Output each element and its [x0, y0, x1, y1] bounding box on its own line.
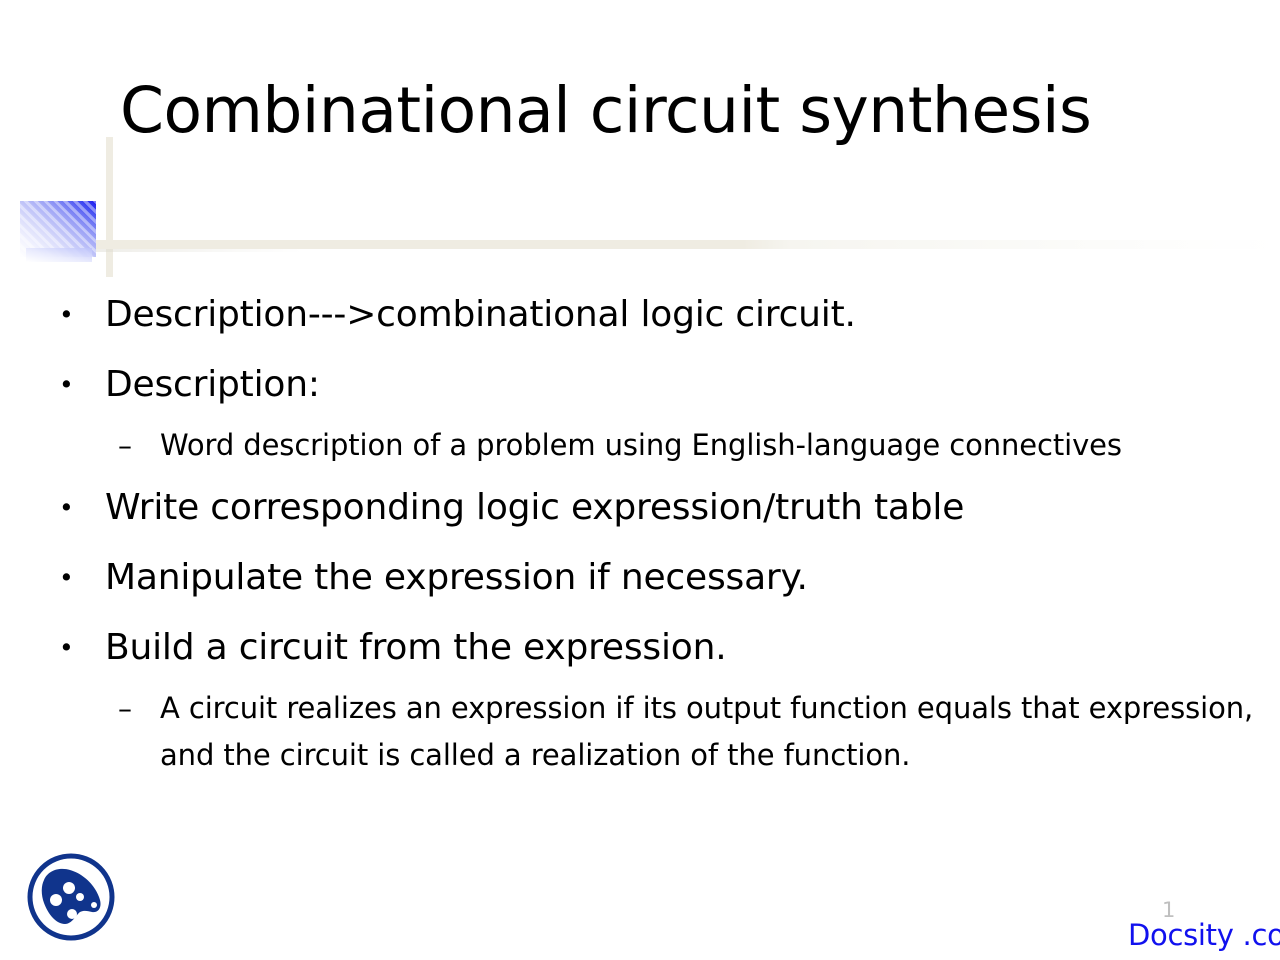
sub-list-item: – A circuit realizes an expression if it… — [0, 685, 1280, 779]
dash-marker: – — [118, 422, 160, 469]
horizontal-rule-shadow — [62, 249, 302, 252]
list-item: • Build a circuit from the expression. — [0, 615, 1280, 681]
slide-canvas: Combinational circuit synthesis • Descri… — [0, 0, 1280, 960]
list-item-text: Description--->combinational logic circu… — [105, 282, 1280, 348]
bullet-list: • Description--->combinational logic cir… — [0, 282, 1280, 785]
horizontal-rule-decoration — [60, 240, 1280, 249]
list-item-text: Manipulate the expression if necessary. — [105, 545, 1280, 611]
list-item: • Manipulate the expression if necessary… — [0, 545, 1280, 611]
list-item: • Description--->combinational logic cir… — [0, 282, 1280, 348]
bullet-marker: • — [55, 475, 105, 541]
bullet-marker: • — [55, 615, 105, 681]
page-title: Combinational circuit synthesis — [120, 78, 1240, 144]
list-item-text: Build a circuit from the expression. — [105, 615, 1280, 681]
list-item: • Description: — [0, 352, 1280, 418]
sub-list-item: – Word description of a problem using En… — [0, 422, 1280, 469]
list-item: • Write corresponding logic expression/t… — [0, 475, 1280, 541]
vertical-rule-decoration — [106, 137, 113, 277]
bullet-marker: • — [55, 282, 105, 348]
docsity-watermark: Docsity .com — [1128, 918, 1280, 952]
list-item-text: Write corresponding logic expression/tru… — [105, 475, 1280, 541]
bullet-marker: • — [55, 352, 105, 418]
gradient-square-tail — [26, 248, 92, 262]
list-item-text: Description: — [105, 352, 1280, 418]
docsity-logo-icon — [22, 848, 120, 946]
sub-list-item-text: A circuit realizes an expression if its … — [160, 685, 1280, 779]
dash-marker: – — [118, 685, 160, 732]
docsity-logo — [22, 848, 120, 946]
sub-list-item-text: Word description of a problem using Engl… — [160, 422, 1260, 469]
bullet-marker: • — [55, 545, 105, 611]
